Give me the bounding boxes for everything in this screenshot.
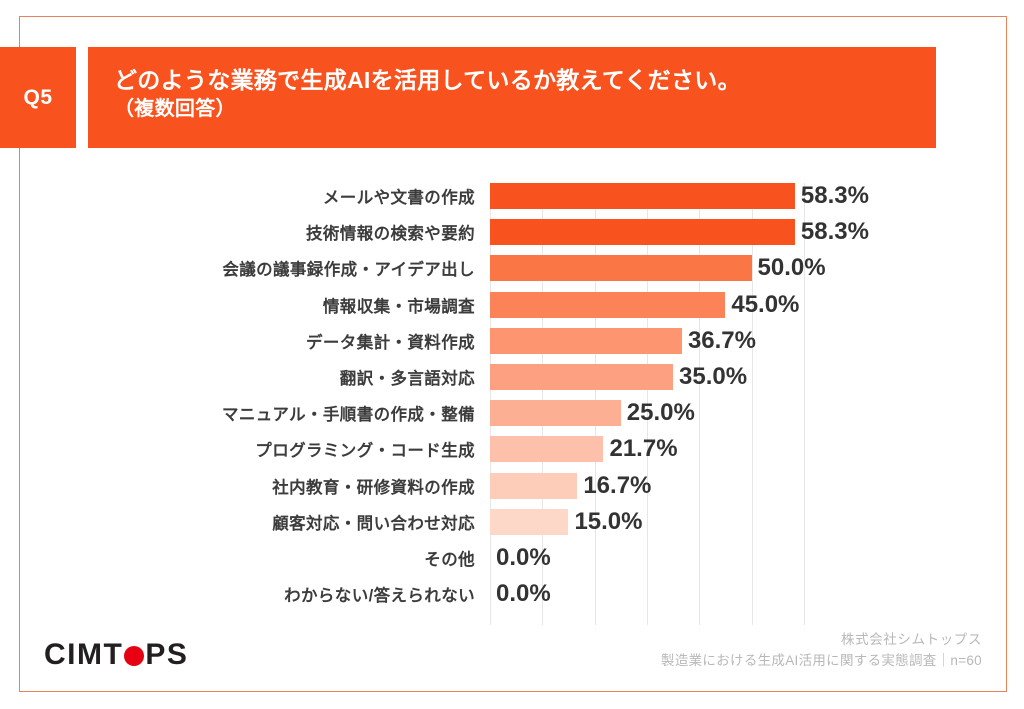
credit-survey: 製造業における生成AI活用に関する実態調査｜n=60 <box>661 651 982 672</box>
chart-row[interactable]: マニュアル・手順書の作成・整備25.0% <box>20 395 1006 431</box>
question-title: どのような業務で生成AIを活用しているか教えてください。 <box>114 65 936 96</box>
logo-text-before: CIMT <box>44 638 123 672</box>
bar[interactable] <box>490 473 577 499</box>
value-label: 15.0% <box>574 508 642 536</box>
chart-row[interactable]: その他0.0% <box>20 540 1006 576</box>
bar[interactable] <box>490 400 621 426</box>
chart-row[interactable]: 情報収集・市場調査45.0% <box>20 287 1006 323</box>
value-label: 16.7% <box>583 472 651 500</box>
bar-group: 15.0% <box>490 509 643 535</box>
bar-group: 36.7% <box>490 328 756 354</box>
chart-row[interactable]: メールや文書の作成58.3% <box>20 178 1006 214</box>
bar-group: 58.3% <box>490 183 869 209</box>
category-label: データ集計・資料作成 <box>20 329 475 353</box>
chart-row[interactable]: わからない/答えられない0.0% <box>20 576 1006 612</box>
bar-group: 25.0% <box>490 400 695 426</box>
value-label: 45.0% <box>731 291 799 319</box>
bar[interactable] <box>490 255 752 281</box>
chart-row[interactable]: 顧客対応・問い合わせ対応15.0% <box>20 504 1006 540</box>
bar[interactable] <box>490 328 682 354</box>
value-label: 58.3% <box>801 182 869 210</box>
value-label: 21.7% <box>609 435 677 463</box>
bar[interactable] <box>490 183 795 209</box>
category-label: メールや文書の作成 <box>20 184 475 208</box>
slide-root: Q5 どのような業務で生成AIを活用しているか教えてください。 （複数回答） メ… <box>0 0 1024 709</box>
category-label: マニュアル・手順書の作成・整備 <box>20 401 475 425</box>
bar-chart: メールや文書の作成58.3%技術情報の検索や要約58.3%会議の議事録作成・アイ… <box>20 178 1006 630</box>
category-label: 顧客対応・問い合わせ対応 <box>20 510 475 534</box>
chart-rows: メールや文書の作成58.3%技術情報の検索や要約58.3%会議の議事録作成・アイ… <box>20 178 1006 612</box>
bar-group: 35.0% <box>490 364 747 390</box>
credit-company: 株式会社シムトップス <box>661 630 982 651</box>
category-label: 情報収集・市場調査 <box>20 293 475 317</box>
bar-group: 21.7% <box>490 436 678 462</box>
bar-group: 0.0% <box>490 581 551 607</box>
bar-group: 45.0% <box>490 292 799 318</box>
value-label: 36.7% <box>688 327 756 355</box>
chart-row[interactable]: プログラミング・コード生成21.7% <box>20 431 1006 467</box>
category-label: 社内教育・研修資料の作成 <box>20 474 475 498</box>
bar[interactable] <box>490 436 603 462</box>
value-label: 35.0% <box>679 363 747 391</box>
value-label: 0.0% <box>496 544 551 572</box>
category-label: 会議の議事録作成・アイデア出し <box>20 256 475 280</box>
chart-row[interactable]: 社内教育・研修資料の作成16.7% <box>20 468 1006 504</box>
cimtops-logo: CIMTPS <box>44 638 188 672</box>
bar[interactable] <box>490 364 673 390</box>
value-label: 58.3% <box>801 218 869 246</box>
category-label: その他 <box>20 546 475 570</box>
category-label: 翻訳・多言語対応 <box>20 365 475 389</box>
logo-dot-icon <box>124 646 144 666</box>
credit-block: 株式会社シムトップス 製造業における生成AI活用に関する実態調査｜n=60 <box>661 630 982 672</box>
value-label: 25.0% <box>627 399 695 427</box>
value-label: 0.0% <box>496 580 551 608</box>
chart-row[interactable]: 翻訳・多言語対応35.0% <box>20 359 1006 395</box>
question-number-label: Q5 <box>23 86 52 110</box>
logo-text-after: PS <box>145 638 188 672</box>
bar[interactable] <box>490 509 568 535</box>
bar[interactable] <box>490 292 725 318</box>
chart-row[interactable]: データ集計・資料作成36.7% <box>20 323 1006 359</box>
question-subtitle: （複数回答） <box>114 96 936 123</box>
category-label: わからない/答えられない <box>20 582 475 606</box>
bar-group: 0.0% <box>490 545 551 571</box>
bar-group: 50.0% <box>490 255 826 281</box>
chart-row[interactable]: 会議の議事録作成・アイデア出し50.0% <box>20 250 1006 286</box>
bar-group: 16.7% <box>490 473 651 499</box>
value-label: 50.0% <box>758 254 826 282</box>
chart-row[interactable]: 技術情報の検索や要約58.3% <box>20 214 1006 250</box>
question-header-bar: どのような業務で生成AIを活用しているか教えてください。 （複数回答） <box>88 47 936 148</box>
category-label: 技術情報の検索や要約 <box>20 220 475 244</box>
bar[interactable] <box>490 219 795 245</box>
question-number-badge: Q5 <box>0 47 76 148</box>
bar-group: 58.3% <box>490 219 869 245</box>
category-label: プログラミング・コード生成 <box>20 437 475 461</box>
